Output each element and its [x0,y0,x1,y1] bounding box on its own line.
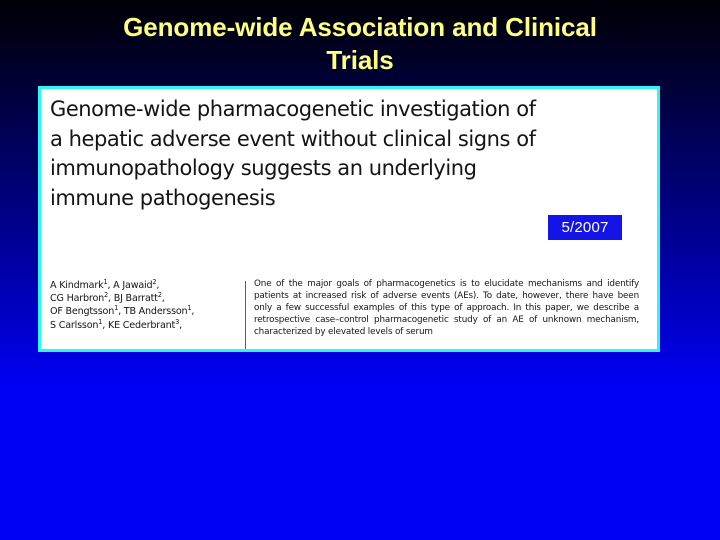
author-line: OF Bengtsson1, TB Andersson1, [50,305,240,318]
slide-title: Genome-wide Association and Clinical Tri… [30,11,690,77]
author-list: A Kindmark1, A Jawaid2,CG Harbron2, BJ B… [50,279,240,332]
publication-date-badge: 5/2007 [548,215,622,240]
author-line: S Carlsson1, KE Cederbrant3, [50,319,240,332]
paper-abstract-card: Genome-wide pharmacogenetic investigatio… [38,86,660,352]
paper-body-columns: A Kindmark1, A Jawaid2,CG Harbron2, BJ B… [41,279,657,351]
presentation-slide: Genome-wide Association and Clinical Tri… [0,0,720,540]
abstract-text: One of the major goals of pharmacogeneti… [254,279,639,339]
column-divider [245,281,246,349]
author-line: A Kindmark1, A Jawaid2, [50,279,240,292]
author-line: CG Harbron2, BJ Barratt2, [50,292,240,305]
article-title: Genome-wide pharmacogenetic investigatio… [50,95,650,213]
